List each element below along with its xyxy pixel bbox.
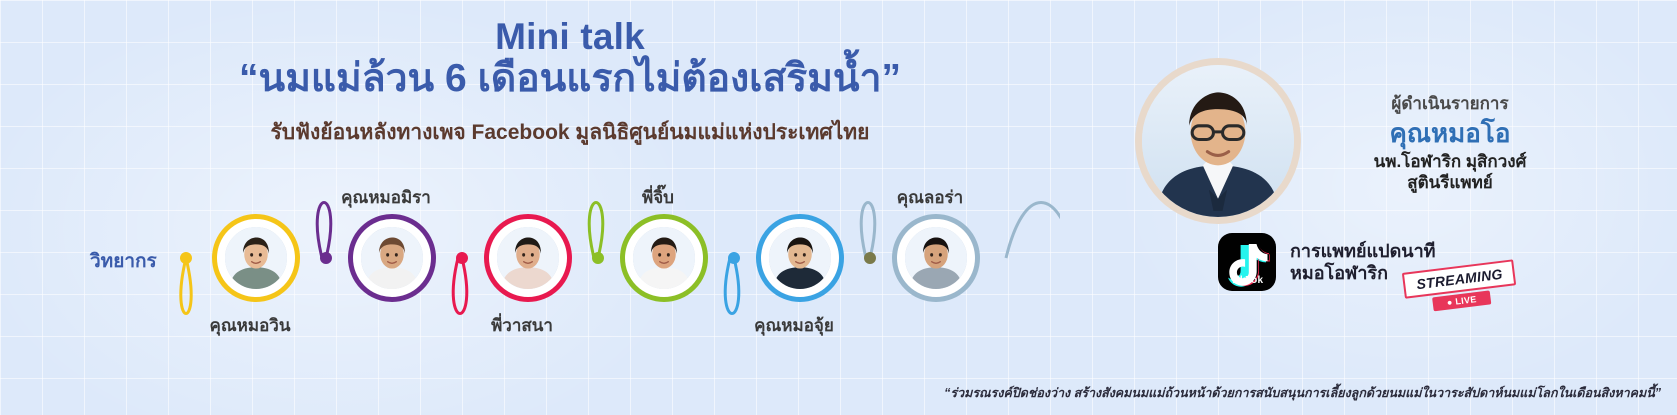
page-title: Mini talk	[0, 16, 1140, 57]
speaker-name: คุณลอร่า	[820, 184, 1040, 211]
timeline-dot	[456, 252, 468, 264]
speaker-portrait-icon	[361, 227, 423, 289]
speaker-avatar-ring	[620, 214, 708, 302]
speaker-avatar-image	[494, 224, 562, 292]
speaker-avatar-ring	[892, 214, 980, 302]
speaker-name: พี่จิ๊บ	[548, 184, 768, 211]
speaker-timeline: วิทยากร คุณหมอวินคุณหมอมิราพี่วาสนาพี่จิ…	[0, 172, 1060, 352]
speaker-portrait-icon	[633, 227, 695, 289]
tiktok-icon[interactable]: TikTok	[1218, 233, 1276, 291]
header-block: Mini talk “นมแม่ล้วน 6 เดือนแรกไม่ต้องเส…	[0, 16, 1140, 149]
tiktok-wordmark: TikTok	[1218, 275, 1276, 286]
timeline-dot	[320, 252, 332, 264]
speaker-portrait-icon	[905, 227, 967, 289]
speaker-avatar-image	[222, 224, 290, 292]
timeline-dot	[864, 252, 876, 264]
speaker-avatar-image	[358, 224, 426, 292]
speaker-avatar-ring	[348, 214, 436, 302]
speaker-portrait-icon	[769, 227, 831, 289]
timeline-arc	[725, 258, 739, 314]
host-full-name: นพ.โอฬาริก มุสิกวงศ์	[1305, 151, 1595, 172]
tiktok-channel-line1: การแพทย์แปดนาที	[1290, 240, 1436, 263]
speaker-name: คุณหมอวิน	[140, 312, 360, 339]
host-avatar-image	[1142, 65, 1294, 217]
host-nickname: คุณหมอโอ	[1305, 119, 1595, 148]
speaker-avatar-ring	[484, 214, 572, 302]
host-role: ผู้ดำเนินรายการ	[1305, 90, 1595, 117]
title-quote: “นมแม่ล้วน 6 เดือนแรกไม่ต้องเสริมน้ำ”	[0, 56, 1140, 103]
speaker-avatar-ring	[756, 214, 844, 302]
speaker-name: พี่วาสนา	[412, 312, 632, 339]
speaker-name: คุณหมอมิรา	[276, 184, 496, 211]
speaker-portrait-icon	[497, 227, 559, 289]
host-avatar	[1135, 58, 1301, 224]
speaker-portrait-icon	[225, 227, 287, 289]
speaker-avatar-ring	[212, 214, 300, 302]
speaker-avatar-image	[766, 224, 834, 292]
timeline-arc	[181, 258, 191, 314]
speaker-avatar-image	[902, 224, 970, 292]
timeline-dot	[592, 252, 604, 264]
timeline-arc	[453, 258, 467, 314]
subtitle: รับฟังย้อนหลังทางเพจ Facebook มูลนิธิศูน…	[0, 116, 1140, 149]
speaker-avatar-image	[630, 224, 698, 292]
speaker-name: คุณหมอจุ้ย	[684, 312, 904, 339]
webinar-banner: Mini talk “นมแม่ล้วน 6 เดือนแรกไม่ต้องเส…	[0, 0, 1677, 415]
host-info: ผู้ดำเนินรายการ คุณหมอโอ นพ.โอฬาริก มุสิ…	[1305, 90, 1595, 193]
timeline-dot	[728, 252, 740, 264]
host-specialty: สูตินรีแพทย์	[1305, 172, 1595, 193]
timeline-dot	[180, 252, 192, 264]
host-portrait-icon	[1142, 65, 1294, 217]
footer-caption: “ร่วมรณรงค์ปิดช่องว่าง สร้างสังคมนมแม่ถ้…	[944, 383, 1661, 403]
